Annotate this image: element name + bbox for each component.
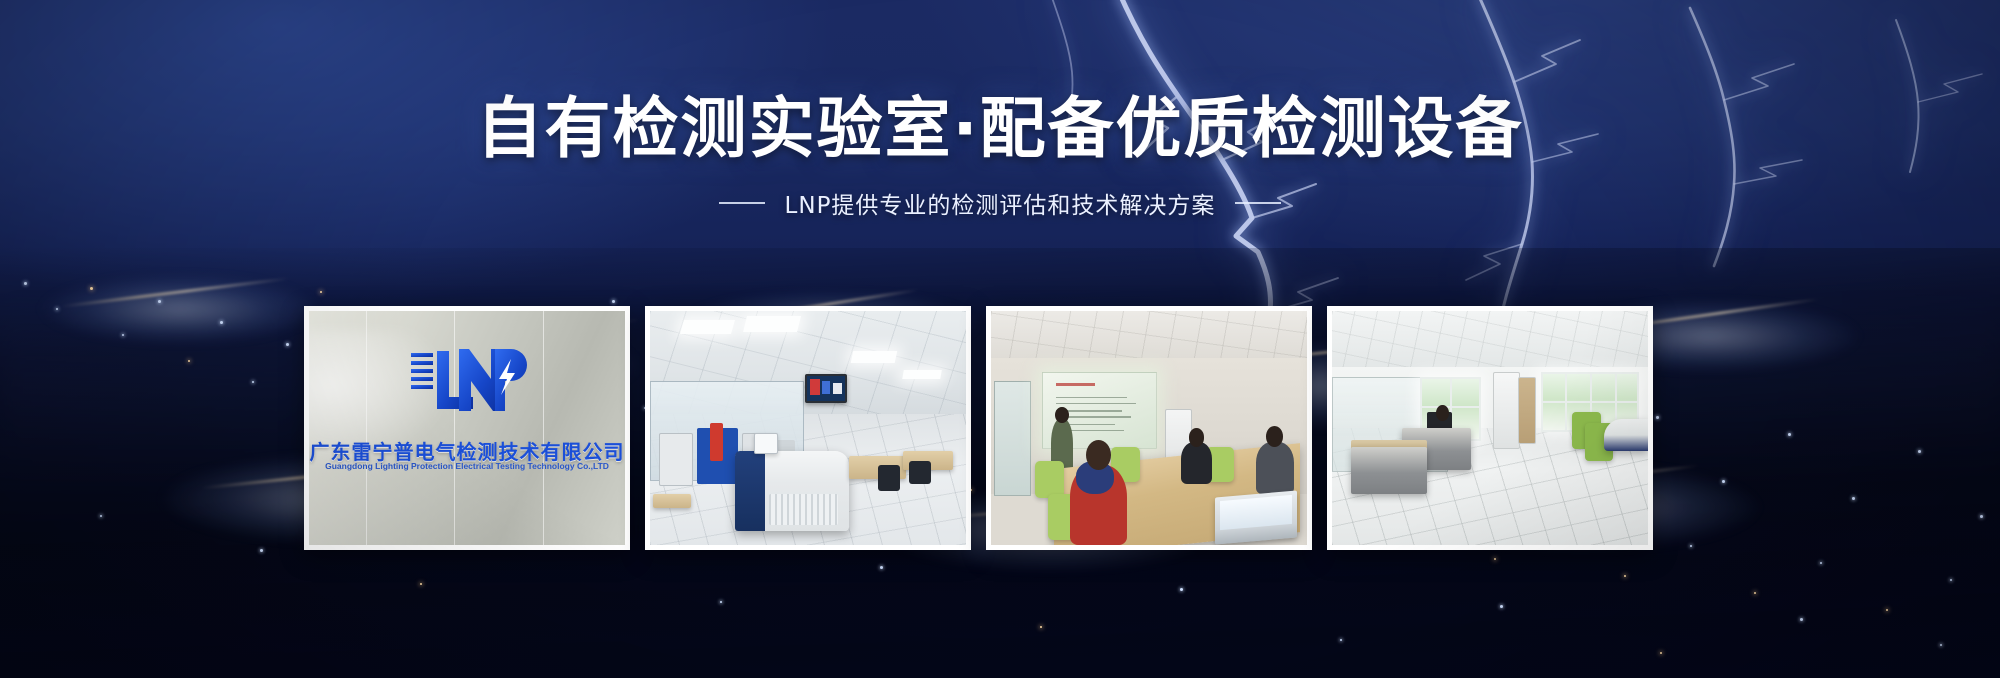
left-rule-divider xyxy=(719,202,765,204)
reception-desk xyxy=(1604,419,1648,452)
meeting-room-scene xyxy=(991,311,1307,545)
photo-company-logo-wall[interactable]: 广东雷宁普电气检测技术有限公司 Guangdong Lighting Prote… xyxy=(304,306,630,550)
banner-headline: 自有检测实验室·配备优质检测设备 xyxy=(0,96,2000,162)
cabinet xyxy=(1493,372,1520,449)
photo-office-workspace[interactable] xyxy=(1327,306,1653,550)
banner-subtitle: LNP提供专业的检测评估和技术解决方案 xyxy=(785,186,1216,220)
hero-banner: 自有检测实验室·配备优质检测设备 LNP提供专业的检测评估和技术解决方案 xyxy=(0,0,2000,678)
control-console xyxy=(735,451,849,531)
photo-strip: 广东雷宁普电气检测技术有限公司 Guangdong Lighting Prote… xyxy=(304,306,1653,550)
banner-copy: 自有检测实验室·配备优质检测设备 LNP提供专业的检测评估和技术解决方案 xyxy=(0,96,2000,220)
photo-2-content xyxy=(650,311,966,545)
lnp-logo-icon xyxy=(407,341,527,423)
wall-tv-icon xyxy=(805,374,847,403)
laptop xyxy=(1215,490,1297,544)
company-name-en: Guangdong Lighting Protection Electrical… xyxy=(325,461,609,471)
bookshelf xyxy=(1518,377,1536,445)
right-rule-divider xyxy=(1235,202,1281,204)
photo-training-meeting-room[interactable] xyxy=(986,306,1312,550)
banner-subtitle-row: LNP提供专业的检测评估和技术解决方案 xyxy=(0,186,2000,220)
console-monitor xyxy=(754,433,778,454)
photo-testing-laboratory[interactable] xyxy=(645,306,971,550)
laboratory-scene xyxy=(650,311,966,545)
attendee-left xyxy=(1181,442,1213,484)
photo-1-content: 广东雷宁普电气检测技术有限公司 Guangdong Lighting Prote… xyxy=(309,311,625,545)
photo-3-content xyxy=(991,311,1307,545)
logo-wall-surface: 广东雷宁普电气检测技术有限公司 Guangdong Lighting Prote… xyxy=(309,311,625,545)
office-scene xyxy=(1332,311,1648,545)
attendee-right xyxy=(1256,442,1294,493)
photo-4-content xyxy=(1332,311,1648,545)
